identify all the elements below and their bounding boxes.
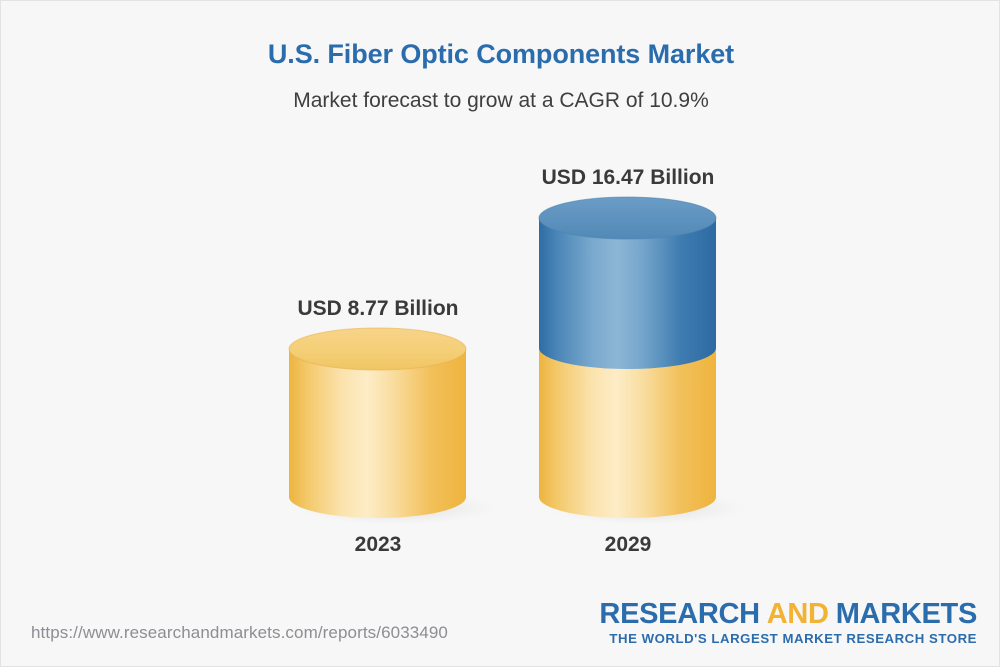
cylinder-bar-2029[interactable] (529, 197, 739, 528)
cylinder-bar-2023[interactable] (279, 328, 489, 528)
plot-area: USD 8.77 Billion (1, 1, 1000, 601)
brand-logo[interactable]: RESEARCHANDMARKETS THE WORLD'S LARGEST M… (599, 599, 977, 646)
brand-word-research: RESEARCH (599, 598, 759, 630)
brand-word-markets: MARKETS (836, 598, 977, 630)
value-label-2029: USD 16.47 Billion (478, 166, 778, 190)
brand-tagline: THE WORLD'S LARGEST MARKET RESEARCH STOR… (599, 631, 977, 646)
category-label-2029: 2029 (478, 533, 778, 557)
brand-word-and: AND (767, 598, 829, 630)
bar-2029-upper-segment (539, 218, 716, 369)
source-url[interactable]: https://www.researchandmarkets.com/repor… (31, 623, 448, 643)
bar-2023-body (289, 349, 466, 518)
brand-wordmark: RESEARCHANDMARKETS (599, 599, 977, 629)
value-label-2023: USD 8.77 Billion (228, 297, 528, 321)
chart-canvas: U.S. Fiber Optic Components Market Marke… (0, 0, 1000, 667)
